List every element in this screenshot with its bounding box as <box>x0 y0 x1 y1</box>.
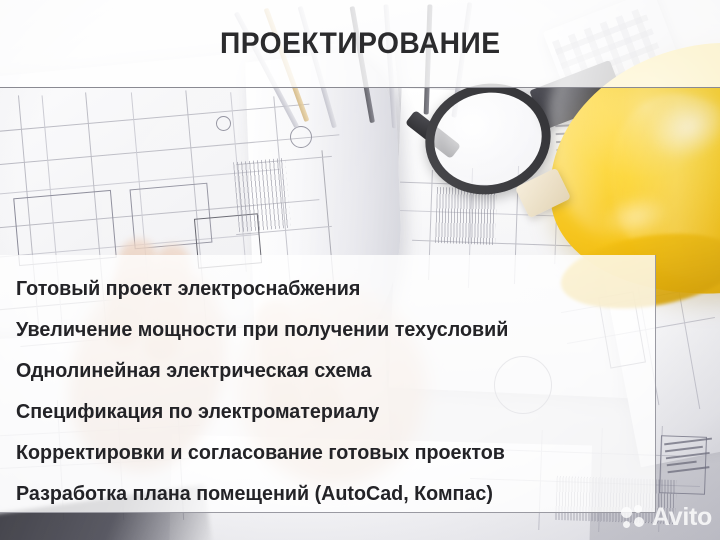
service-item: Готовый проект электроснабжения <box>16 269 645 310</box>
avito-dots-icon <box>621 505 647 531</box>
avito-watermark: Avito <box>621 503 712 532</box>
service-item: Однолинейная электрическая схема <box>16 351 645 392</box>
service-item: Разработка плана помещений (AutoCad, Ком… <box>16 474 645 515</box>
avito-wordmark: Avito <box>652 503 712 532</box>
services-panel: Готовый проект электроснабжения Увеличен… <box>0 255 656 513</box>
page-title: ПРОЕКТИРОВАНИЕ <box>220 27 501 61</box>
service-item: Корректировки и согласование готовых про… <box>16 433 645 474</box>
service-item: Спецификация по электроматериалу <box>16 392 645 433</box>
slide-canvas: ПРОЕКТИРОВАНИЕ Готовый проект электросна… <box>0 0 720 540</box>
header-banner: ПРОЕКТИРОВАНИЕ <box>0 0 720 88</box>
service-item: Увеличение мощности при получении техусл… <box>16 310 645 351</box>
